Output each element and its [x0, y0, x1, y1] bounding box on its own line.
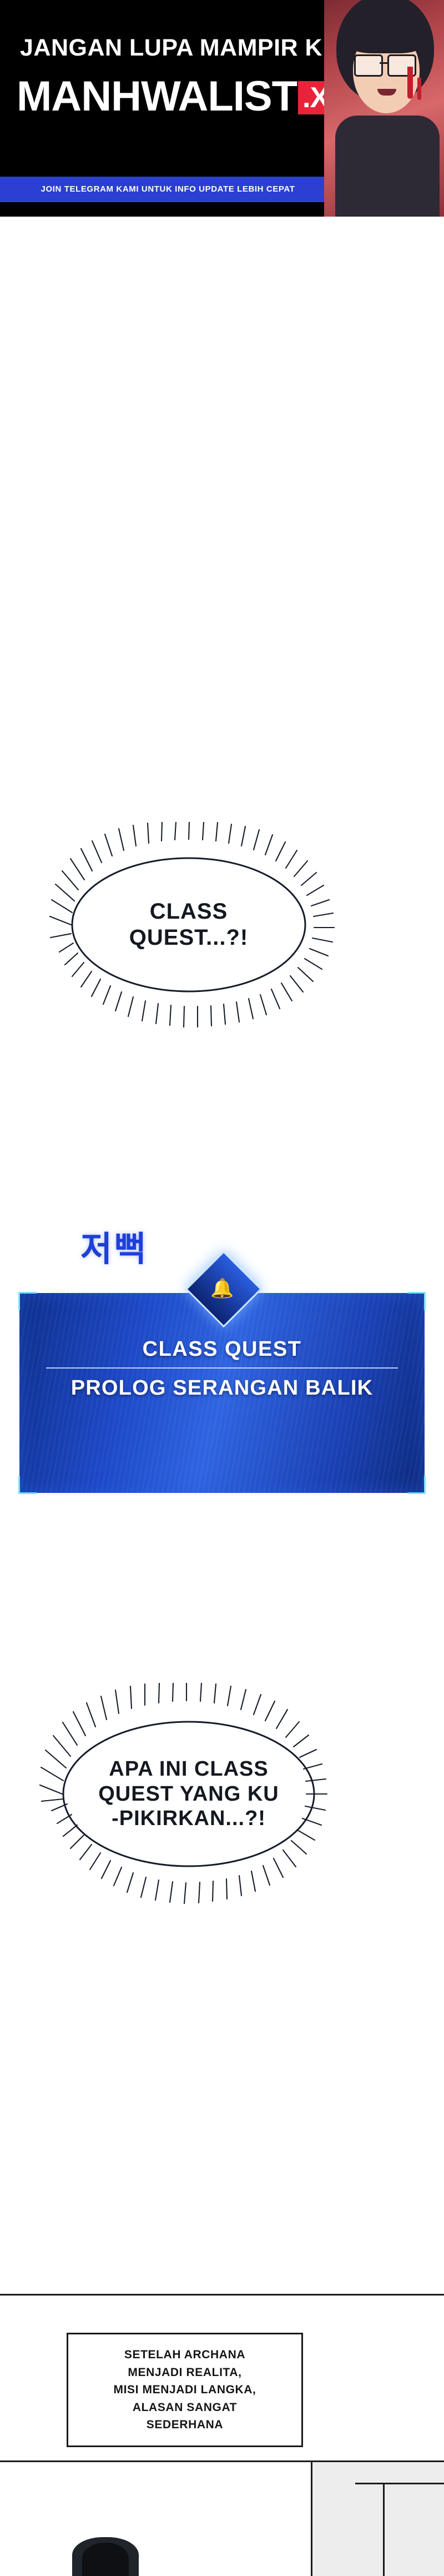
- scribble-bubble-outline-2: [22, 1683, 355, 1905]
- banner-telegram-label: JOIN TELEGRAM KAMI UNTUK INFO UPDATE LEB…: [0, 177, 336, 202]
- scene-shaded-area: [312, 2462, 444, 2576]
- banner-telegram-strip[interactable]: JOIN TELEGRAM KAMI UNTUK INFO UPDATE LEB…: [0, 177, 336, 202]
- banner-brand: MANHWALIST.XYZ: [17, 72, 369, 121]
- character-fringe: [344, 14, 427, 53]
- panel-corner-top-left: [18, 1292, 37, 1310]
- speech-bubble-apa-ini: APA INI CLASS QUEST YANG KU -PIKIRKAN...…: [22, 1683, 355, 1905]
- quest-divider: [46, 1367, 398, 1369]
- sfx-korean-text: 저뻑: [80, 1221, 148, 1271]
- panel-corner-bottom-right: [407, 1476, 426, 1494]
- scene-character-hair: [82, 2543, 129, 2576]
- narration-box: SETELAH ARCHANA MENJADI REALITA, MISI ME…: [67, 2333, 303, 2447]
- character-blood-drip-2: [417, 78, 421, 100]
- comic-page: JANGAN LUPA MAMPIR KE MANHWALIST.XYZ JOI…: [0, 0, 444, 2576]
- quest-subtitle: PROLOG SERANGAN BALIK: [19, 1376, 425, 1400]
- narration-text: SETELAH ARCHANA MENJADI REALITA, MISI ME…: [68, 2334, 301, 2445]
- scene-vertical-edge-2: [383, 2483, 385, 2576]
- class-quest-banner: 저뻑 🔔 CLASS QUEST PROLOG SERANGAN BALIK: [19, 1216, 425, 1516]
- banner-tagline: JANGAN LUPA MAMPIR KE: [20, 34, 339, 62]
- site-promo-banner[interactable]: JANGAN LUPA MAMPIR KE MANHWALIST.XYZ JOI…: [0, 0, 444, 217]
- bell-icon: 🔔: [210, 1276, 234, 1301]
- panel-corner-top-right: [407, 1292, 426, 1310]
- banner-brand-name: MANHWALIST: [17, 73, 297, 120]
- character-glasses-left: [354, 54, 383, 77]
- character-body: [335, 116, 440, 217]
- scene-horizontal-edge: [355, 2483, 444, 2484]
- character-glasses-bridge: [380, 62, 387, 64]
- character-blood-drip-1: [407, 67, 413, 99]
- speech-bubble-class-quest: CLASS QUEST...?!: [33, 822, 344, 1028]
- scene-vertical-edge-1: [311, 2460, 312, 2576]
- quest-title: CLASS QUEST: [19, 1337, 425, 1361]
- scribble-bubble-outline-1: [33, 822, 344, 1028]
- panel-corner-bottom-left: [18, 1476, 37, 1494]
- banner-character-art: [324, 0, 444, 217]
